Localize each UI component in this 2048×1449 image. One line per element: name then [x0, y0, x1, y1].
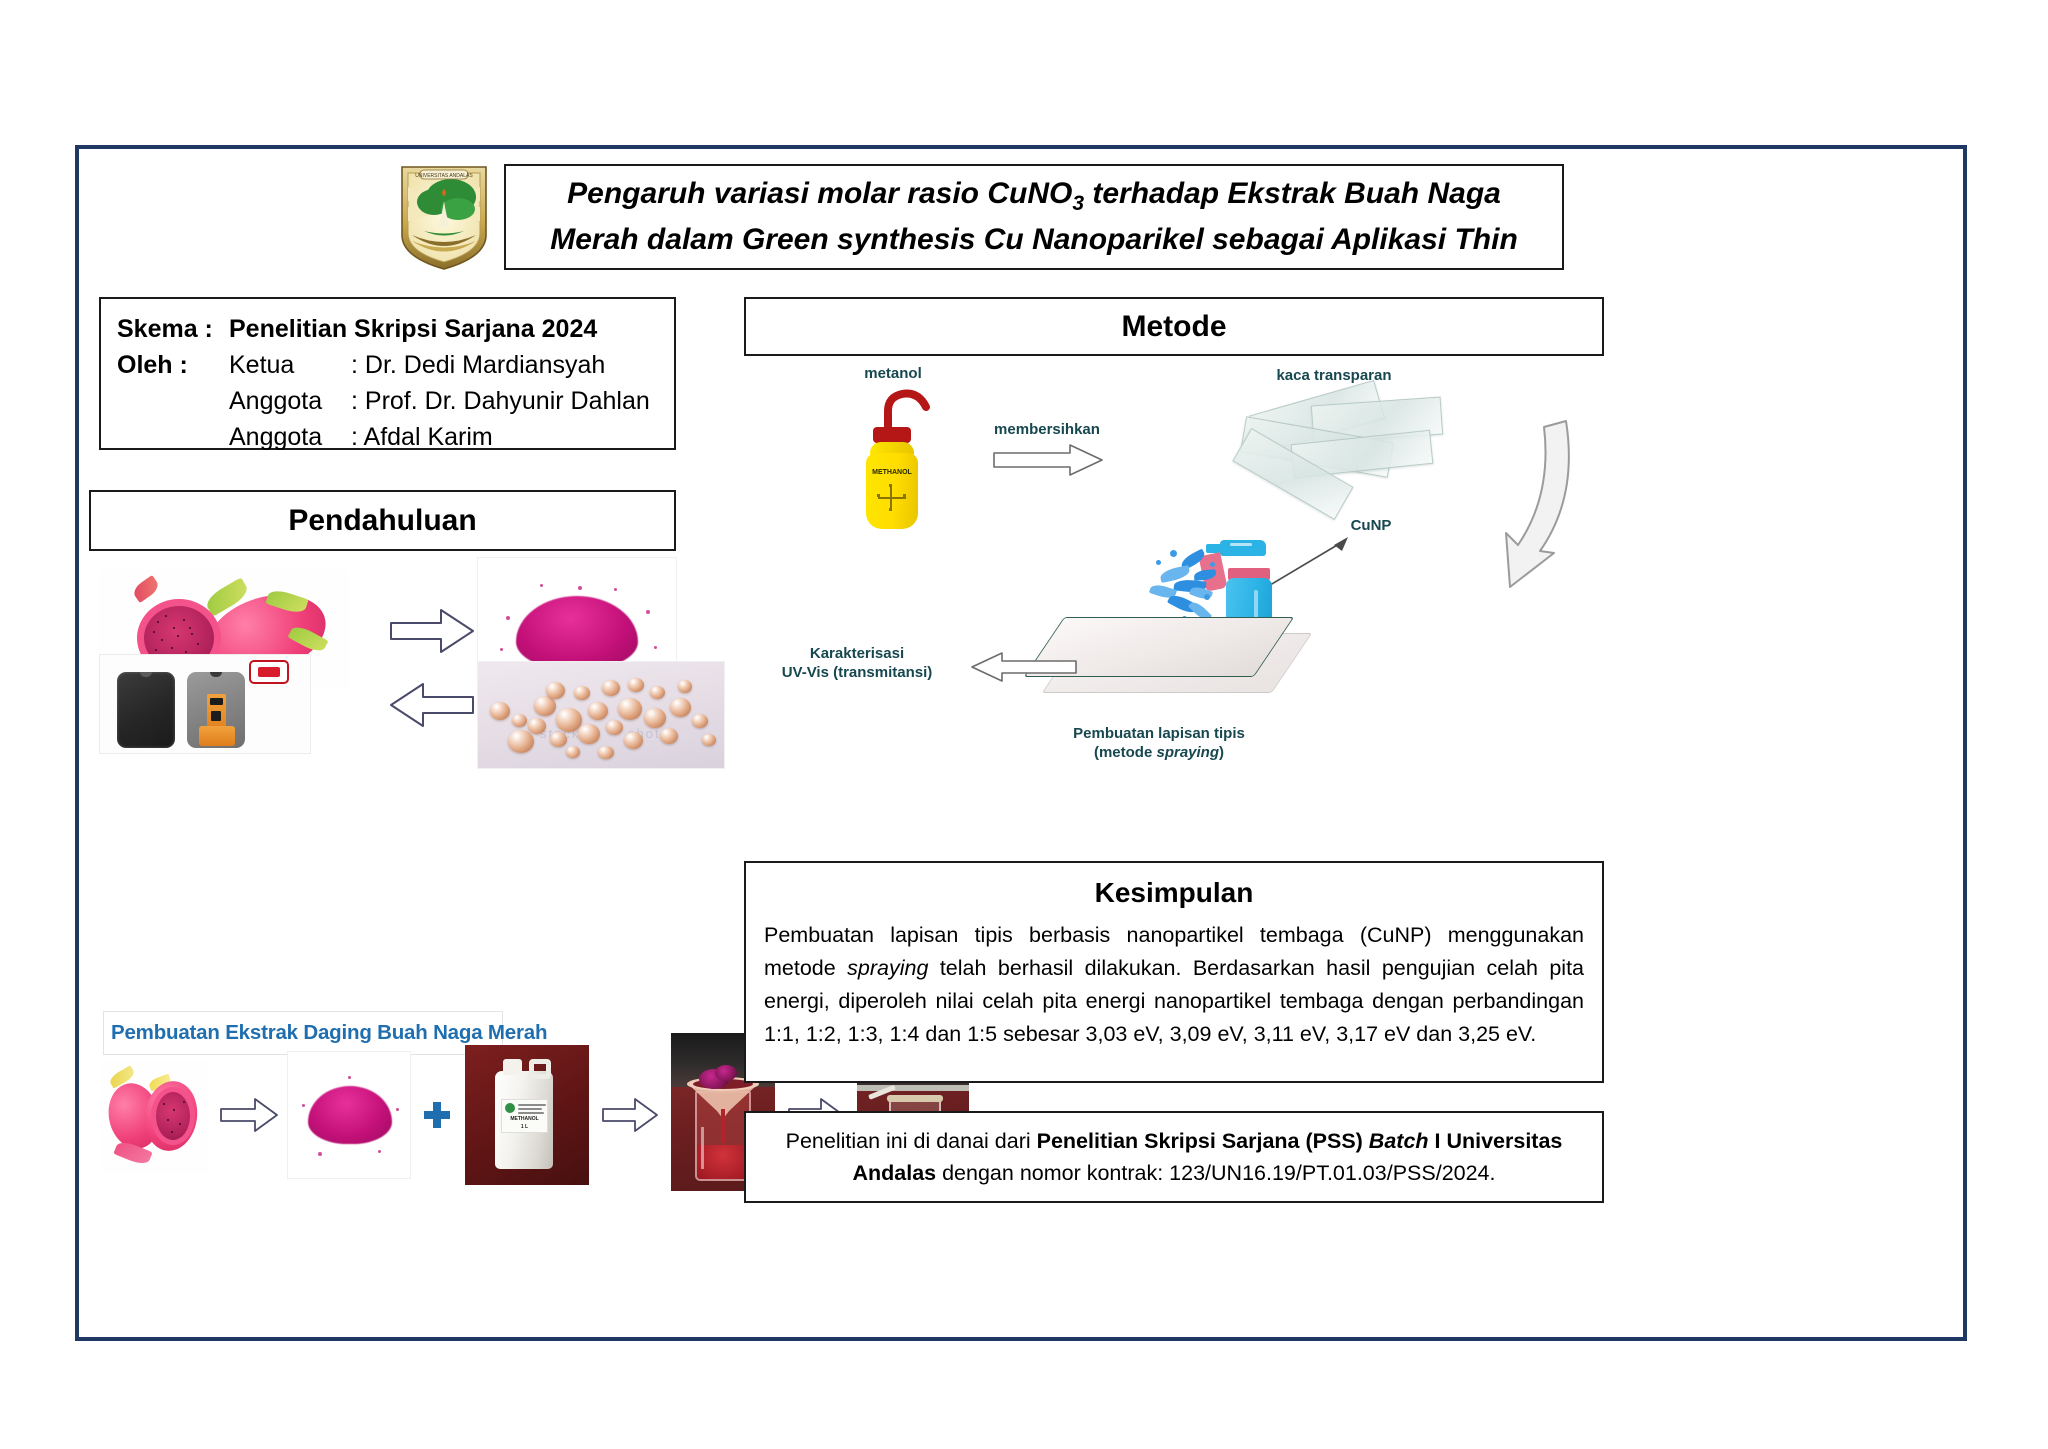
page-title: Pengaruh variasi molar rasio CuNO3 terha… — [536, 173, 1532, 261]
thin-film-plate-icon — [1044, 617, 1274, 677]
ekstrak-banner: Pembuatan Ekstrak Daging Buah Naga Merah — [103, 1011, 503, 1055]
phone-lcd-photo — [99, 654, 311, 754]
section-header-metode: Metode — [744, 297, 1604, 356]
label-pembuatan-lapisan-tipis: Pembuatan lapisan tipis (metode spraying… — [1034, 725, 1284, 763]
jerrycan-volume: 1 L — [502, 1124, 547, 1130]
methanol-wash-bottle-icon: METHANOL — [848, 385, 940, 535]
author-name: : Afdal Karim — [351, 419, 674, 455]
metode-process-diagram: metanol METHANOL membersihkan kaca — [744, 359, 1604, 789]
poster-title-box: Pengaruh variasi molar rasio CuNO3 terha… — [504, 164, 1564, 270]
author-role: Anggota — [229, 419, 351, 455]
author-row: Oleh : Ketua : Dr. Dedi Mardiansyah — [117, 347, 674, 383]
funding-statement: Penelitian ini di danai dari Penelitian … — [762, 1125, 1586, 1190]
metode-title: Metode — [1122, 310, 1227, 344]
seller-logo-badge-icon — [249, 660, 289, 684]
methanol-jerrycan-photo: METHANOL 1 L — [465, 1045, 589, 1185]
author-role: Ketua — [229, 347, 351, 383]
author-role: Anggota — [229, 383, 351, 419]
skema-value: Penelitian Skripsi Sarjana 2024 — [229, 311, 674, 347]
flow-arrow-right-icon — [601, 1097, 659, 1133]
glass-slides-icon — [1204, 393, 1464, 519]
wash-bottle-label: METHANOL — [866, 469, 918, 476]
kesimpulan-title: Kesimpulan — [764, 877, 1584, 909]
oleh-label: Oleh : — [117, 347, 229, 383]
funding-statement-box: Penelitian ini di danai dari Penelitian … — [744, 1111, 1604, 1203]
author-info-box: Skema : Penelitian Skripsi Sarjana 2024 … — [99, 297, 676, 450]
curved-arrow-down-icon — [1454, 411, 1584, 601]
flow-arrow-right-icon — [992, 443, 1104, 477]
svg-text:UNIVERSITAS ANDALAS: UNIVERSITAS ANDALAS — [415, 173, 473, 179]
skema-label: Skema : — [117, 311, 229, 347]
label-metanol: metanol — [838, 365, 948, 384]
author-name: : Prof. Dr. Dahyunir Dahlan — [351, 383, 674, 419]
dragonfruit-powder-photo-2 — [287, 1051, 411, 1179]
author-row: Anggota : Afdal Karim — [117, 419, 674, 455]
label-kaca-transparan: kaca transparan — [1244, 367, 1424, 386]
label-membersihkan: membersihkan — [982, 421, 1112, 440]
author-row: Anggota : Prof. Dr. Dahyunir Dahlan — [117, 383, 674, 419]
dragonfruit-slices-photo — [101, 1061, 209, 1173]
flow-arrow-right-icon — [219, 1097, 279, 1133]
kesimpulan-box: Kesimpulan Pembuatan lapisan tipis berba… — [744, 861, 1604, 1083]
universitas-andalas-logo-icon: UNIVERSITAS ANDALAS — [394, 161, 494, 273]
section-header-pendahuluan: Pendahuluan — [89, 490, 676, 551]
flow-arrow-left-icon — [389, 681, 475, 729]
copper-nanoparticles-photo: stock shot — [477, 661, 725, 769]
poster-canvas: UNIVERSITAS ANDALAS Pengaruh variasi mol… — [75, 145, 1967, 1341]
banner-label: Pembuatan Ekstrak Daging Buah Naga Merah — [111, 1021, 547, 1045]
jerrycan-label: METHANOL — [502, 1116, 547, 1122]
flow-arrow-left-icon — [970, 651, 1078, 683]
plus-icon — [423, 1101, 451, 1129]
flow-arrow-right-icon — [389, 607, 475, 655]
author-name: : Dr. Dedi Mardiansyah — [351, 347, 674, 383]
skema-line: Skema : Penelitian Skripsi Sarjana 2024 — [117, 311, 674, 347]
label-cunp: CuNP — [1336, 517, 1406, 536]
kesimpulan-body: Pembuatan lapisan tipis berbasis nanopar… — [764, 919, 1584, 1051]
label-karakterisasi: Karakterisasi UV-Vis (transmitansi) — [752, 645, 962, 683]
poster-header: UNIVERSITAS ANDALAS Pengaruh variasi mol… — [394, 159, 1574, 277]
pendahuluan-title: Pendahuluan — [288, 504, 476, 538]
